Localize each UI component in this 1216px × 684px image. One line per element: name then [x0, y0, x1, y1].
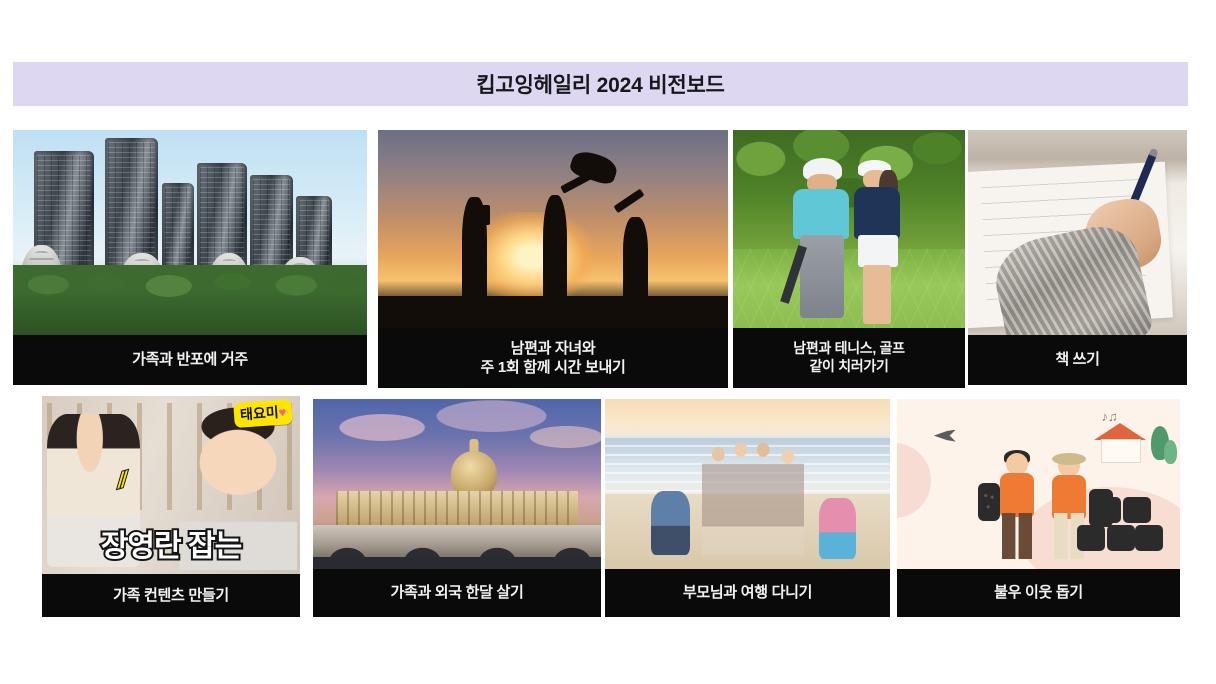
youtube-thumbnail-image: ⁄⁄ 태요미♥ 장영란 잡는: [42, 396, 300, 574]
caption-line: 책 쓰기: [1055, 350, 1099, 369]
tile-caption: 부모님과 여행 다니기: [605, 569, 890, 617]
airplane-icon: [934, 430, 956, 442]
tile-caption: 가족 컨텐츠 만들기: [42, 574, 300, 617]
overlay-badge-text: 태요미: [239, 404, 279, 423]
caption-line: 가족과 외국 한달 살기: [390, 583, 523, 602]
vision-tile-family-time[interactable]: 남편과 자녀와 주 1회 함께 시간 보내기: [378, 130, 728, 388]
golf-couple-image: [733, 130, 965, 328]
overlay-headline: 장영란 잡는: [101, 521, 241, 565]
caption-line: 가족 컨텐츠 만들기: [113, 586, 229, 605]
apartment-skyline-image: [13, 130, 367, 335]
volunteer-illustration-image: ♪♫: [897, 399, 1180, 569]
caption-line: 같이 치러가기: [809, 358, 888, 376]
heart-icon: ♥: [278, 405, 287, 421]
vision-tile-live-abroad[interactable]: 가족과 외국 한달 살기: [313, 399, 601, 617]
rome-vatican-image: [313, 399, 601, 569]
caption-line: 남편과 테니스, 골프: [793, 340, 904, 358]
volunteer-figure: [988, 453, 1046, 559]
vision-tile-residence[interactable]: 가족과 반포에 거주: [13, 130, 367, 385]
overlay-badge: 태요미♥: [233, 399, 293, 428]
vision-tile-travel-parents[interactable]: 부모님과 여행 다니기: [605, 399, 890, 617]
caption-line: 부모님과 여행 다니기: [683, 583, 812, 602]
vision-board-slide: 킵고잉헤일리 2024 비전보드 가족과 반포에 거주: [0, 0, 1216, 684]
house-icon: [1094, 423, 1146, 461]
title-banner: 킵고잉헤일리 2024 비전보드: [13, 62, 1188, 106]
hand-writing-image: [968, 130, 1187, 335]
beach-family-image: [605, 399, 890, 569]
tile-caption: 불우 이웃 돕기: [897, 569, 1180, 617]
tile-caption: 가족과 외국 한달 살기: [313, 569, 601, 617]
vision-tile-write-book[interactable]: 책 쓰기: [968, 130, 1187, 385]
page-title: 킵고잉헤일리 2024 비전보드: [476, 69, 724, 99]
caption-line: 남편과 자녀와: [511, 339, 596, 358]
vision-tile-golf-tennis[interactable]: 남편과 테니스, 골프 같이 치러가기: [733, 130, 965, 388]
vision-tile-help-neighbors[interactable]: ♪♫: [897, 399, 1180, 617]
tile-caption: 가족과 반포에 거주: [13, 335, 367, 385]
caption-line: 주 1회 함께 시간 보내기: [480, 358, 625, 377]
briquette-stack: [1065, 497, 1157, 559]
tile-caption: 책 쓰기: [968, 335, 1187, 385]
sun-glow: [472, 212, 592, 302]
caption-line: 가족과 반포에 거주: [132, 350, 248, 369]
family-sunset-image: [378, 130, 728, 328]
tile-caption: 남편과 자녀와 주 1회 함께 시간 보내기: [378, 328, 728, 388]
tile-caption: 남편과 테니스, 골프 같이 치러가기: [733, 328, 965, 388]
vision-tile-family-content[interactable]: ⁄⁄ 태요미♥ 장영란 잡는 가족 컨텐츠 만들기: [42, 396, 300, 617]
caption-line: 불우 이웃 돕기: [994, 583, 1083, 602]
